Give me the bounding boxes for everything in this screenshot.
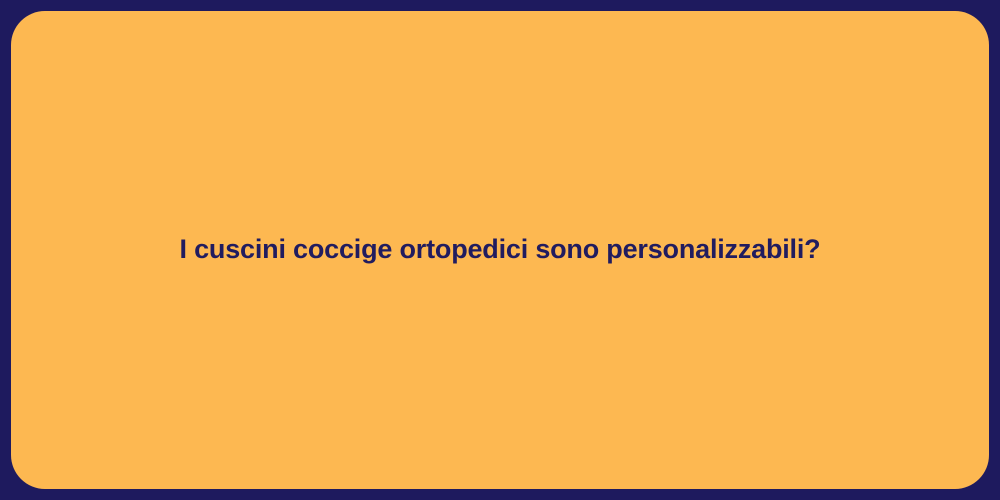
page-title: I cuscini coccige ortopedici sono person… [160, 232, 841, 267]
content-panel: I cuscini coccige ortopedici sono person… [11, 11, 989, 489]
banner-container: I cuscini coccige ortopedici sono person… [0, 0, 1000, 500]
